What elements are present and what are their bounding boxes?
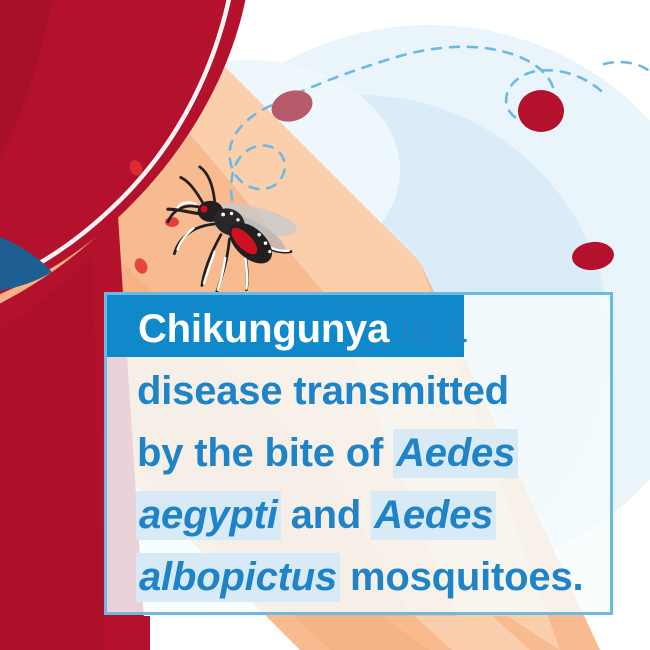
message-line-2-plain: disease transmitted	[137, 369, 509, 413]
message-line-5: albopictusmosquitoes.	[137, 557, 583, 597]
species-name-aedes-1: Aedes	[393, 429, 518, 478]
message-line-1-plain: is a	[400, 307, 466, 351]
message-line-5-plain: mosquitoes.	[350, 555, 583, 599]
message-line-3: by the bite ofAedes	[137, 433, 517, 473]
message-card-inner: Chikungunyais a disease transmitted by t…	[107, 295, 610, 612]
message-line-1: Chikungunyais a	[138, 309, 466, 349]
disease-name: Chikungunya	[138, 307, 389, 351]
message-card: Chikungunyais a disease transmitted by t…	[104, 292, 613, 615]
species-name-albopictus: albopictus	[136, 553, 340, 602]
message-line-4: aegyptiandAedes	[137, 495, 495, 535]
poster-canvas: Chikungunyais a disease transmitted by t…	[0, 0, 650, 650]
species-name-aegypti: aegypti	[136, 491, 281, 540]
species-name-aedes-2: Aedes	[371, 491, 496, 540]
message-line-4-plain: and	[291, 493, 362, 537]
mosquito-antennae	[181, 167, 215, 205]
message-line-2: disease transmitted	[137, 371, 509, 411]
message-line-3-plain: by the bite of	[137, 431, 383, 475]
